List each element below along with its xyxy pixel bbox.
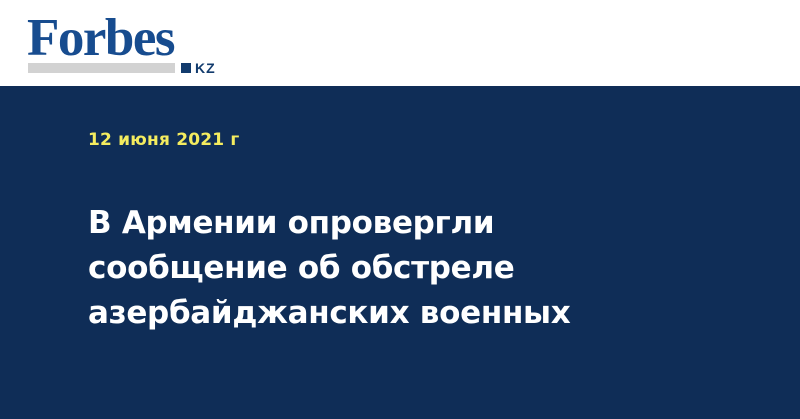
forbes-wordmark: Forbes <box>27 12 227 66</box>
page-title-line-2: сообщение об обстреле <box>88 246 688 291</box>
article-date: 12 июня 2021 г <box>88 130 240 150</box>
article-hero: 12 июня 2021 г В Армении опровергли сооб… <box>0 86 800 419</box>
logo-divider-rule <box>28 63 175 73</box>
article-banner-page: Forbes KZ 12 июня 2021 г В Армении опров… <box>0 0 800 419</box>
site-header: Forbes KZ <box>0 0 800 86</box>
logo-kz-label: KZ <box>195 63 216 73</box>
page-title-line-1: В Армении опровергли <box>88 201 688 246</box>
logo-underline-row: KZ <box>28 61 226 74</box>
forbes-kz-logo[interactable]: Forbes KZ <box>27 12 227 76</box>
page-title: В Армении опровергли сообщение об обстре… <box>88 201 688 336</box>
page-title-line-3: азербайджанских военных <box>88 291 688 336</box>
blue-square-icon <box>181 63 191 73</box>
